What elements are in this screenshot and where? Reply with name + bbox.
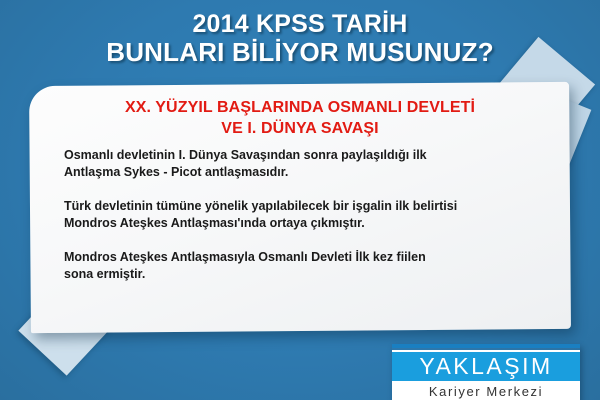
content-card: XX. YÜZYIL BAŞLARINDA OSMANLI DEVLETİ VE… bbox=[29, 82, 571, 333]
brand-logo-name-box: YAKLAŞIM bbox=[392, 350, 580, 383]
content-paragraph-line: sona ermiştir. bbox=[64, 266, 534, 283]
content-heading-line-1: XX. YÜZYIL BAŞLARINDA OSMANLI DEVLETİ bbox=[30, 97, 570, 118]
brand-logo-tagline: Kariyer Merkezi bbox=[392, 384, 580, 400]
brand-logo-tagline-box: Kariyer Merkezi bbox=[392, 383, 580, 400]
content-heading: XX. YÜZYIL BAŞLARINDA OSMANLI DEVLETİ VE… bbox=[30, 97, 570, 139]
content-paragraph-line: Mondros Ateşkes Antlaşması'ında ortaya ç… bbox=[64, 215, 534, 232]
content-paragraph-line: Mondros Ateşkes Antlaşmasıyla Osmanlı De… bbox=[64, 249, 534, 266]
slide-canvas: 2014 KPSS TARİH BUNLARI BİLİYOR MUSUNUZ?… bbox=[0, 0, 600, 400]
content-body: Osmanlı devletinin I. Dünya Savaşından s… bbox=[64, 147, 534, 283]
brand-logo: YAKLAŞIM Kariyer Merkezi bbox=[392, 344, 580, 400]
content-paragraph: Türk devletinin tümüne yönelik yapılabil… bbox=[64, 198, 534, 232]
brand-logo-top-bar bbox=[392, 344, 580, 348]
content-paragraph-line: Osmanlı devletinin I. Dünya Savaşından s… bbox=[64, 147, 534, 164]
slide-title-line-2: BUNLARI BİLİYOR MUSUNUZ? bbox=[0, 38, 600, 66]
content-paragraph: Osmanlı devletinin I. Dünya Savaşından s… bbox=[64, 147, 534, 181]
brand-logo-name: YAKLAŞIM bbox=[392, 353, 580, 379]
content-paragraph-line: Türk devletinin tümüne yönelik yapılabil… bbox=[64, 198, 534, 215]
slide-title-line-1: 2014 KPSS TARİH bbox=[0, 10, 600, 38]
content-heading-line-2: VE I. DÜNYA SAVAŞI bbox=[30, 118, 570, 139]
content-paragraph-line: Antlaşma Sykes - Picot antlaşmasıdır. bbox=[64, 164, 534, 181]
slide-title: 2014 KPSS TARİH BUNLARI BİLİYOR MUSUNUZ? bbox=[0, 10, 600, 66]
content-card-inner: XX. YÜZYIL BAŞLARINDA OSMANLI DEVLETİ VE… bbox=[30, 84, 570, 331]
content-paragraph: Mondros Ateşkes Antlaşmasıyla Osmanlı De… bbox=[64, 249, 534, 283]
